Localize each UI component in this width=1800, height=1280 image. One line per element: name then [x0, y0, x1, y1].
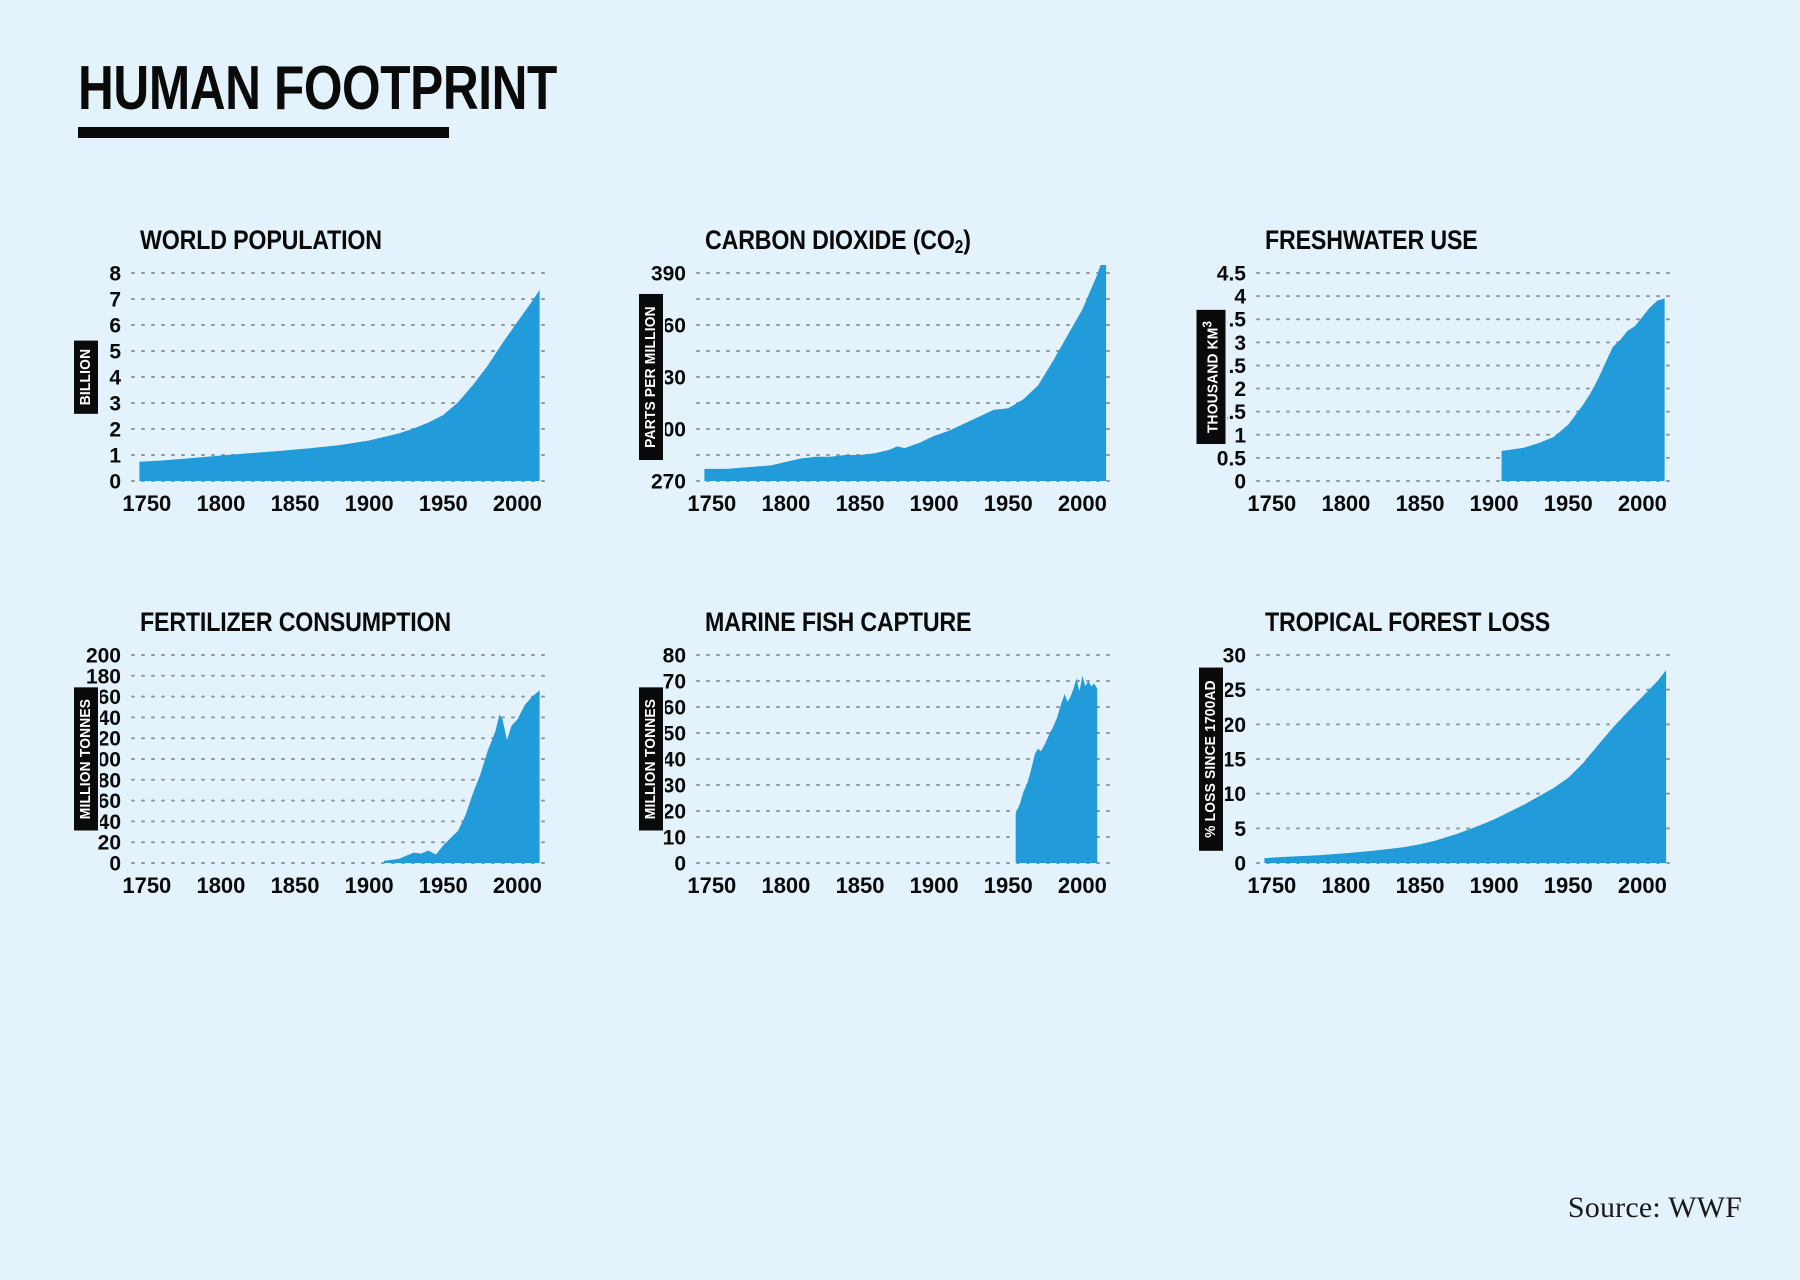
y-tick-label: 10	[663, 827, 686, 850]
y-tick-label: 0.5	[1217, 447, 1247, 470]
y-tick-label: 270	[651, 471, 686, 494]
y-tick-label: 180	[86, 665, 121, 688]
x-tick-label: 2000	[1618, 873, 1667, 898]
y-tick-label: 30	[1223, 647, 1246, 668]
y-tick-label: 70	[663, 671, 686, 694]
x-tick-label: 1900	[1470, 873, 1519, 898]
area-series	[1502, 298, 1665, 481]
x-tick-label: 1850	[271, 491, 320, 516]
y-tick-label: 60	[663, 697, 686, 720]
chart-row-bottom: FERTILIZER CONSUMPTION 02040608010012014…	[0, 607, 1800, 967]
x-tick-label: 1750	[687, 873, 736, 898]
chart-plot-area: 012345678175018001850190019502000BILLION	[60, 265, 635, 527]
chart-plot-area: 0204060801001201401601802001750180018501…	[60, 647, 635, 909]
x-tick-label: 1850	[836, 873, 885, 898]
x-tick-label: 1900	[910, 873, 959, 898]
x-tick-label: 1800	[1321, 491, 1370, 516]
y-tick-label: 25	[1223, 679, 1247, 702]
y-tick-label: 6	[109, 315, 121, 338]
x-tick-label: 1950	[419, 873, 468, 898]
chart-carbon-dioxide: CARBON DIOXIDE (CO2) 2703003303603901750…	[625, 225, 1200, 585]
y-tick-label: 3	[109, 393, 121, 416]
x-tick-label: 1900	[910, 491, 959, 516]
chart-tropical-forest-loss: TROPICAL FOREST LOSS 0510152025301750180…	[1185, 607, 1760, 967]
chart-title: WORLD POPULATION	[140, 225, 566, 259]
chart-title: FRESHWATER USE	[1265, 225, 1691, 259]
page-title: HUMAN FOOTPRINT	[78, 58, 557, 120]
area-series	[1016, 676, 1098, 863]
x-tick-label: 2000	[1618, 491, 1667, 516]
chart-title: TROPICAL FOREST LOSS	[1265, 607, 1691, 641]
x-tick-label: 1950	[1544, 873, 1593, 898]
chart-svg: 00.511.522.533.544.517501800185019001950…	[1185, 265, 1685, 527]
y-tick-label: 4	[109, 367, 121, 390]
chart-row-top: WORLD POPULATION 01234567817501800185019…	[0, 225, 1800, 585]
y-tick-label: 7	[109, 289, 121, 312]
y-tick-label: 2	[1234, 378, 1246, 401]
x-tick-label: 1900	[345, 873, 394, 898]
chart-marine-fish-capture: MARINE FISH CAPTURE 01020304050607080175…	[625, 607, 1200, 967]
y-tick-label: 0	[1234, 471, 1246, 494]
x-tick-label: 1800	[761, 873, 810, 898]
chart-title: FERTILIZER CONSUMPTION	[140, 607, 566, 641]
x-tick-label: 1900	[345, 491, 394, 516]
y-tick-label: 50	[663, 723, 686, 746]
y-axis-unit-label: THOUSAND KM3	[1197, 310, 1226, 444]
chart-fertilizer-consumption: FERTILIZER CONSUMPTION 02040608010012014…	[60, 607, 635, 967]
chart-plot-area: 051015202530175018001850190019502000% LO…	[1185, 647, 1760, 909]
y-tick-label: 15	[1223, 749, 1247, 772]
x-tick-label: 1950	[984, 491, 1033, 516]
x-tick-label: 1850	[1396, 491, 1445, 516]
y-tick-label: 1	[1234, 424, 1246, 447]
y-axis-unit-label: % LOSS SINCE 1700AD	[1199, 667, 1223, 850]
x-tick-label: 2000	[493, 491, 542, 516]
chart-grid: WORLD POPULATION 01234567817501800185019…	[0, 225, 1800, 967]
chart-title: MARINE FISH CAPTURE	[705, 607, 1131, 641]
page-header: HUMAN FOOTPRINT	[78, 58, 677, 138]
area-series	[384, 690, 540, 863]
y-tick-label: 0	[1234, 853, 1246, 876]
y-tick-label: 80	[663, 647, 686, 668]
chart-world-population: WORLD POPULATION 01234567817501800185019…	[60, 225, 635, 585]
y-tick-label: 40	[98, 811, 121, 834]
y-tick-label: 5	[109, 341, 121, 364]
x-tick-label: 2000	[1058, 491, 1107, 516]
x-tick-label: 1950	[1544, 491, 1593, 516]
y-tick-label: 0	[109, 471, 121, 494]
area-series	[1264, 670, 1666, 863]
y-tick-label: 60	[98, 790, 121, 813]
y-tick-label: 30	[663, 775, 686, 798]
x-tick-label: 1800	[1321, 873, 1370, 898]
x-tick-label: 2000	[493, 873, 542, 898]
y-axis-unit-label: MILLION TONNES	[639, 688, 663, 831]
chart-plot-area: 00.511.522.533.544.517501800185019001950…	[1185, 265, 1760, 527]
chart-plot-area: 0102030405060708017501800185019001950200…	[625, 647, 1200, 909]
y-tick-label: 0	[674, 853, 686, 876]
y-tick-label: 10	[1223, 783, 1246, 806]
y-axis-unit-label: BILLION	[74, 340, 98, 413]
chart-svg: 270300330360390175018001850190019502000	[625, 265, 1125, 527]
x-tick-label: 1850	[1396, 873, 1445, 898]
y-tick-label: 1	[109, 445, 121, 468]
chart-title: CARBON DIOXIDE (CO2)	[705, 225, 1131, 259]
x-tick-label: 1800	[761, 491, 810, 516]
chart-svg: 012345678175018001850190019502000	[60, 265, 560, 527]
y-tick-label: 20	[98, 832, 121, 855]
x-tick-label: 2000	[1058, 873, 1107, 898]
y-tick-label: 390	[651, 265, 686, 286]
chart-svg: 051015202530175018001850190019502000	[1185, 647, 1685, 909]
area-series	[704, 265, 1106, 481]
x-tick-label: 1750	[122, 491, 171, 516]
x-tick-label: 1850	[836, 491, 885, 516]
x-tick-label: 1750	[1247, 491, 1296, 516]
source-note: Source: WWF	[1568, 1191, 1742, 1225]
title-underline	[78, 127, 449, 138]
chart-svg: 0204060801001201401601802001750180018501…	[60, 647, 560, 909]
area-series	[139, 290, 539, 481]
y-tick-label: 0	[109, 853, 121, 876]
y-tick-label: 80	[98, 769, 121, 792]
y-tick-label: 2	[109, 419, 121, 442]
y-axis-unit-label: PARTS PER MILLION	[639, 294, 663, 460]
x-tick-label: 1850	[271, 873, 320, 898]
y-tick-label: 8	[109, 265, 121, 286]
y-tick-label: 20	[663, 801, 686, 824]
y-tick-label: 4.5	[1217, 265, 1247, 286]
x-tick-label: 1800	[196, 873, 245, 898]
chart-freshwater-use: FRESHWATER USE 00.511.522.533.544.517501…	[1185, 225, 1760, 585]
y-tick-label: 4	[1234, 286, 1246, 309]
chart-plot-area: 270300330360390175018001850190019502000P…	[625, 265, 1200, 527]
x-tick-label: 1800	[196, 491, 245, 516]
y-tick-label: 20	[1223, 714, 1246, 737]
x-tick-label: 1900	[1470, 491, 1519, 516]
x-tick-label: 1950	[419, 491, 468, 516]
x-tick-label: 1750	[122, 873, 171, 898]
x-tick-label: 1950	[984, 873, 1033, 898]
y-tick-label: 3	[1234, 332, 1246, 355]
x-tick-label: 1750	[1247, 873, 1296, 898]
y-axis-unit-label: MILLION TONNES	[74, 688, 98, 831]
chart-svg: 0102030405060708017501800185019001950200…	[625, 647, 1125, 909]
y-tick-label: 40	[663, 749, 686, 772]
y-tick-label: 200	[86, 647, 121, 668]
x-tick-label: 1750	[687, 491, 736, 516]
y-tick-label: 5	[1234, 818, 1246, 841]
